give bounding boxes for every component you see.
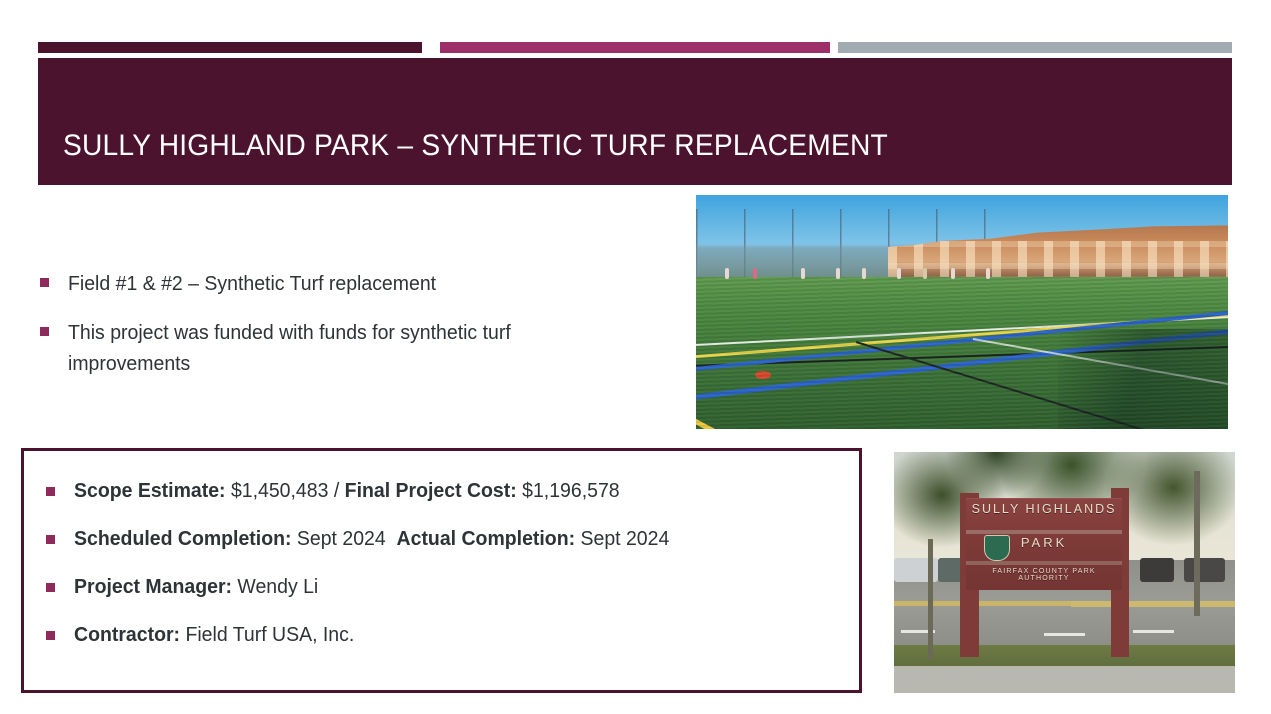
sign-slat-gap [966, 530, 1123, 534]
field-line-black [696, 344, 1228, 367]
tree-shadow [1058, 329, 1228, 429]
young-tree-trunk [928, 539, 932, 660]
list-item: This project was funded with funds for s… [40, 317, 660, 379]
turf-surface [696, 277, 1228, 429]
field-line-black [855, 341, 1228, 429]
photo-synthetic-turf-field [696, 195, 1228, 429]
list-item-label: Field #1 & #2 – Synthetic Turf replaceme… [68, 268, 436, 299]
scheduled-completion-label: Scheduled Completion: [74, 527, 291, 550]
actual-completion-label: Actual Completion: [397, 527, 576, 550]
accent-bar-gray [838, 42, 1232, 53]
sign-text-line-1: SULLY HIGHLANDS [966, 502, 1123, 516]
field-line-white [972, 338, 1228, 395]
final-project-cost-value: $1,196,578 [522, 479, 619, 502]
field-line-blue [696, 321, 1228, 402]
sign-slat-gap [966, 561, 1123, 565]
bullet-square-icon [46, 583, 55, 592]
parking-stripe [1133, 630, 1174, 633]
accent-bar-magenta [440, 42, 830, 53]
field-line-yellow [696, 408, 817, 429]
field-line-blue [696, 306, 1228, 372]
list-item-label: This project was funded with funds for s… [68, 317, 630, 379]
detail-row-completion: Scheduled Completion: Sept 2024 Actual C… [46, 525, 859, 553]
utility-pole [1194, 471, 1199, 616]
field-line-yellow [696, 309, 1228, 359]
scope-estimate-value: $1,450,483 [231, 479, 328, 502]
project-details-box: Scope Estimate: $1,450,483 / Final Proje… [21, 448, 862, 693]
project-manager-value: Wendy Li [237, 575, 318, 598]
photo-park-entrance-sign: SULLY HIGHLANDS PARK FAIRFAX COUNTY PARK… [894, 452, 1235, 693]
bullet-square-icon [40, 278, 49, 287]
bullet-square-icon [46, 631, 55, 640]
training-cone [755, 371, 771, 379]
sign-text-line-2: PARK [966, 535, 1123, 550]
detail-row-contractor: Contractor: Field Turf USA, Inc. [46, 621, 859, 649]
parking-stripe [1044, 633, 1085, 636]
bullet-square-icon [40, 327, 49, 336]
title-banner: SULLY HIGHLAND PARK – SYNTHETIC TURF REP… [38, 58, 1232, 185]
contractor-value: Field Turf USA, Inc. [185, 623, 354, 646]
sign-text-line-3: FAIRFAX COUNTY PARK AUTHORITY [966, 568, 1123, 582]
cost-separator: / [334, 479, 339, 502]
actual-completion-value: Sept 2024 [580, 527, 669, 550]
field-line-white [696, 313, 1228, 346]
accent-bar-dark [38, 42, 422, 53]
list-item: Field #1 & #2 – Synthetic Turf replaceme… [40, 268, 660, 299]
bullet-square-icon [46, 535, 55, 544]
detail-row-project-manager: Project Manager: Wendy Li [46, 573, 859, 601]
curb [1071, 601, 1235, 607]
overview-bullet-list: Field #1 & #2 – Synthetic Turf replaceme… [40, 268, 660, 397]
bullet-square-icon [46, 487, 55, 496]
sidewalk [894, 666, 1235, 693]
page-title: SULLY HIGHLAND PARK – SYNTHETIC TURF REP… [63, 129, 888, 163]
final-project-cost-label: Final Project Cost: [345, 479, 517, 502]
players-group [712, 268, 1031, 289]
scope-estimate-label: Scope Estimate: [74, 479, 226, 502]
detail-row-cost: Scope Estimate: $1,450,483 / Final Proje… [46, 477, 859, 505]
park-sign-board: SULLY HIGHLANDS PARK FAIRFAX COUNTY PARK… [966, 498, 1123, 591]
scheduled-completion-value: Sept 2024 [297, 527, 386, 550]
project-manager-label: Project Manager: [74, 575, 232, 598]
contractor-label: Contractor: [74, 623, 180, 646]
